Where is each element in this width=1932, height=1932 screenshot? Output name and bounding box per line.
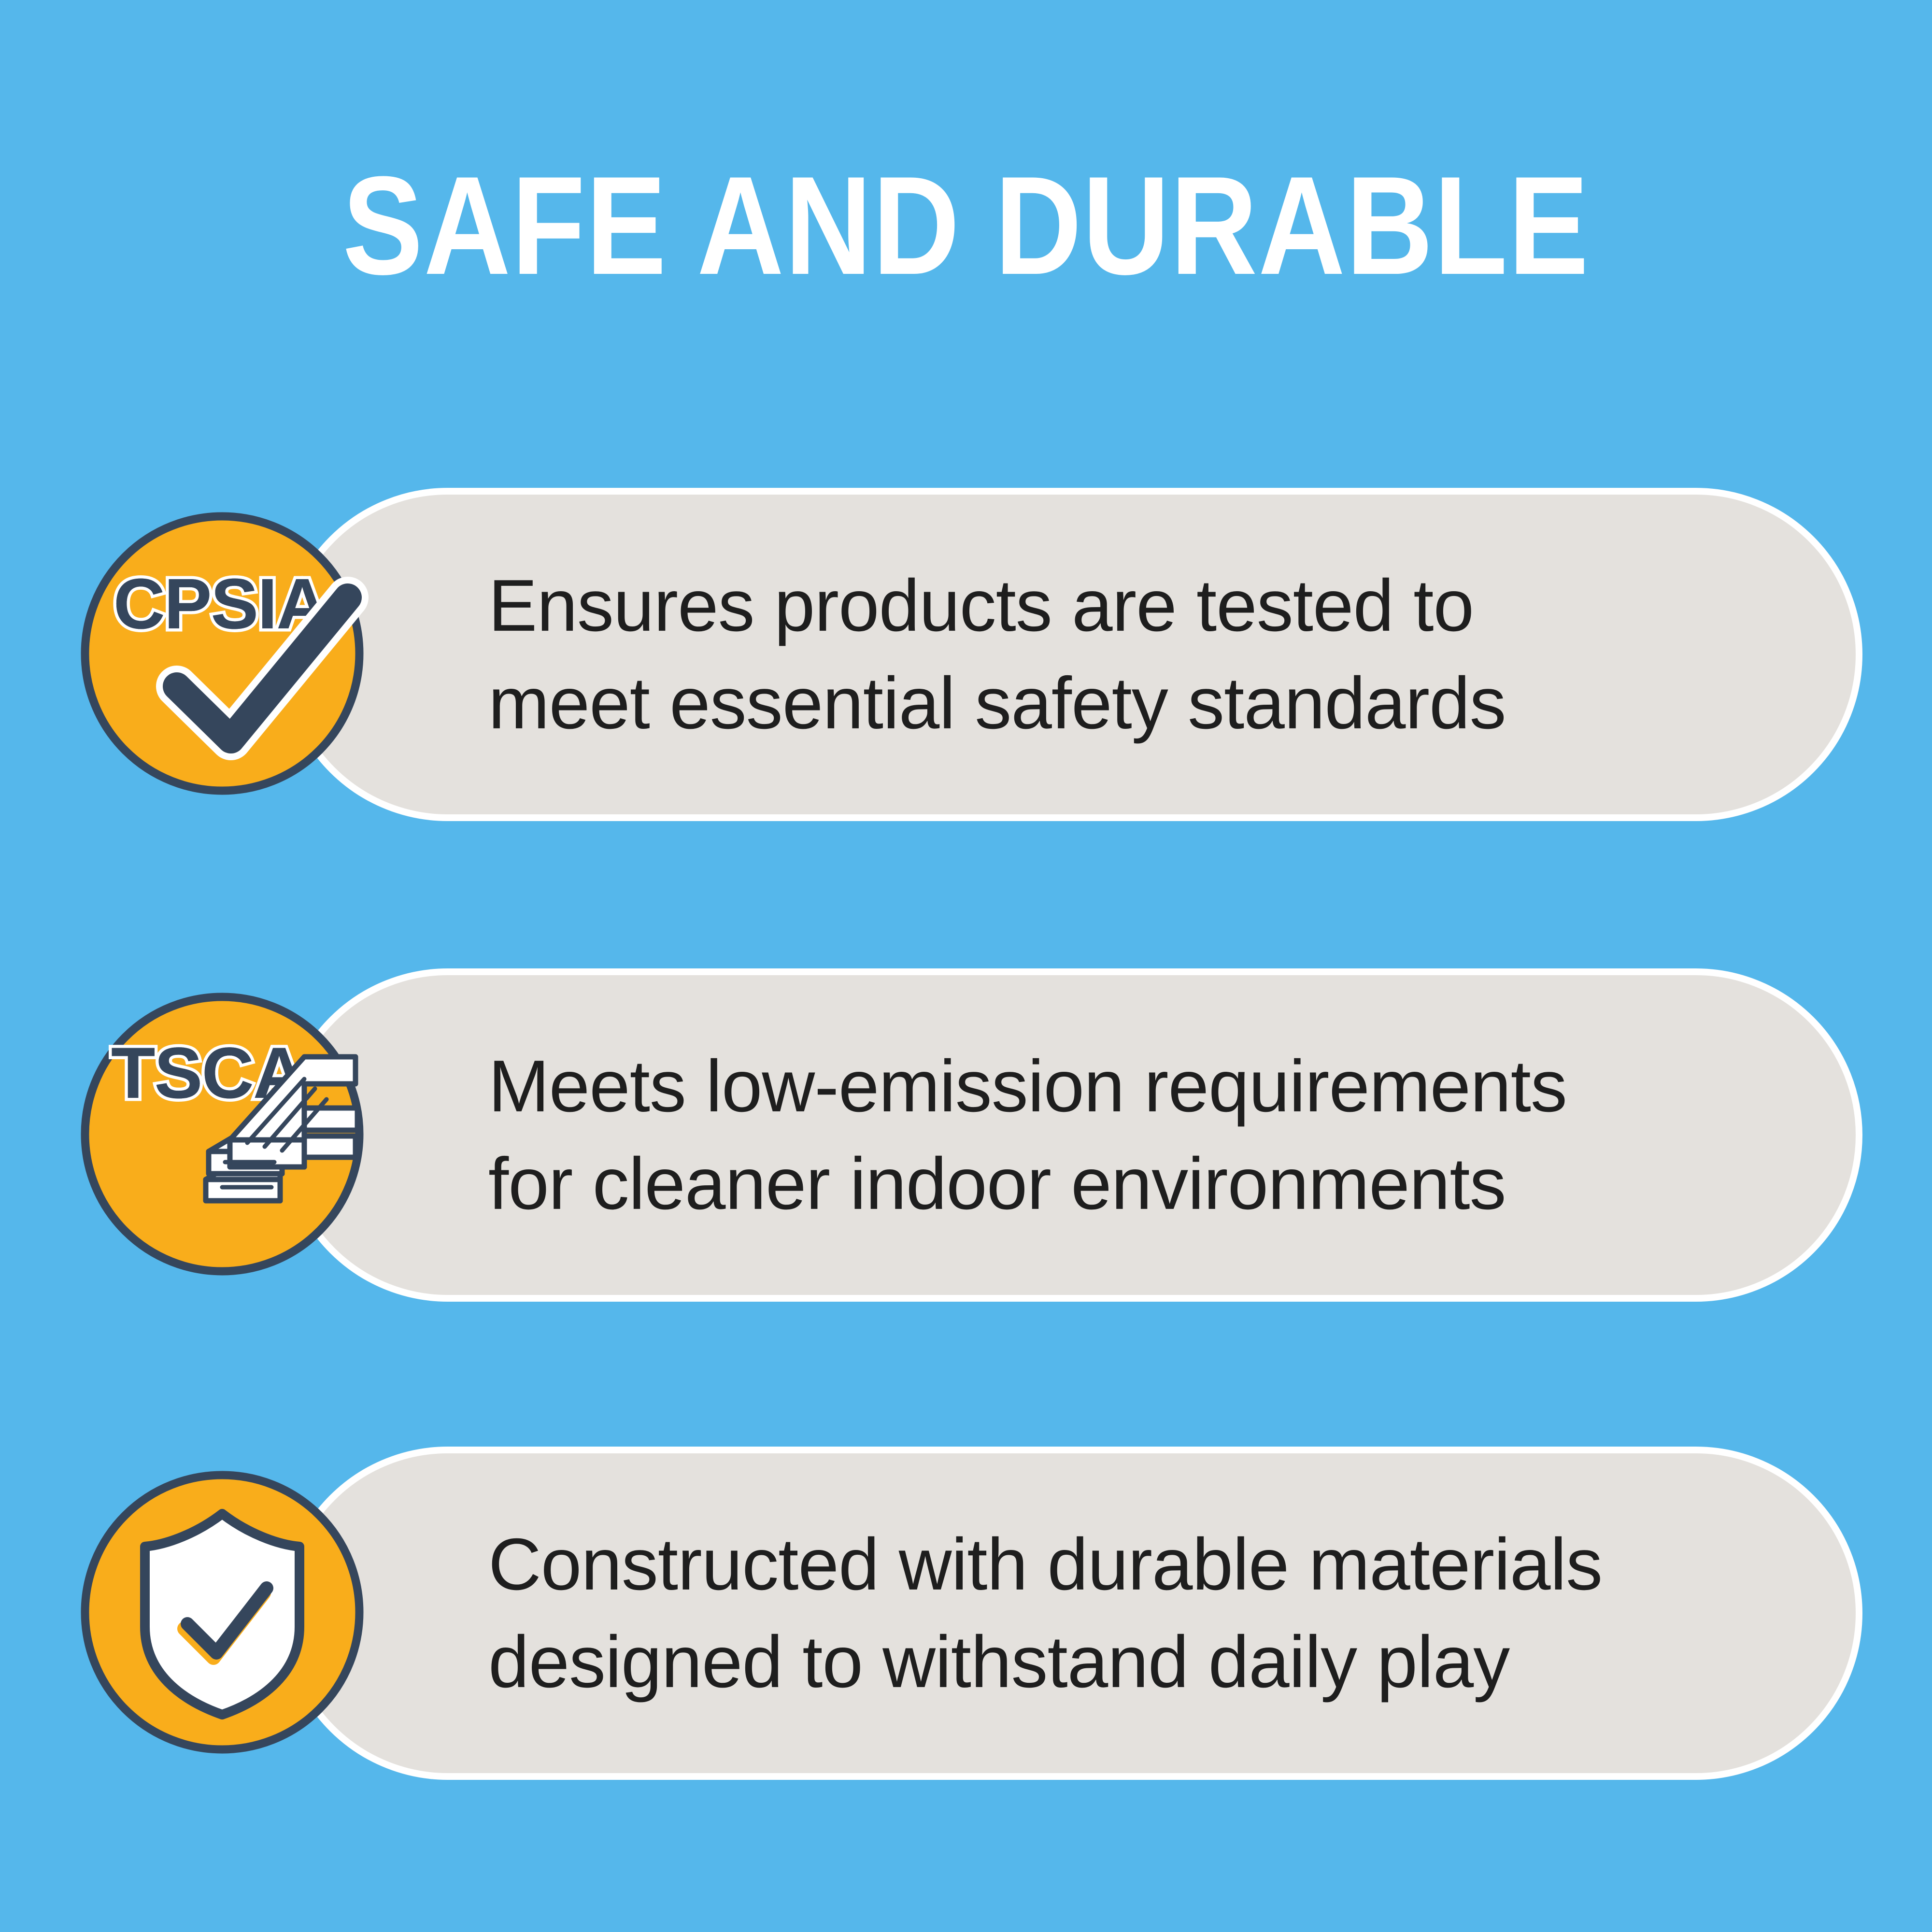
shield-badge xyxy=(77,1467,367,1757)
feature-text-line-2: meet essential safety standards xyxy=(488,654,1792,752)
feature-row-tsca: Meets low-emission requirements for clea… xyxy=(0,966,1932,1304)
feature-card: Meets low-emission requirements for clea… xyxy=(281,968,1862,1302)
tsca-badge: TSCA TSCA xyxy=(77,989,367,1279)
feature-text-line-1: Meets low-emission requirements xyxy=(488,1037,1792,1135)
infographic-canvas: SAFE AND DURABLE Ensures products are te… xyxy=(0,0,1932,1932)
feature-card: Constructed with durable materials desig… xyxy=(281,1447,1862,1780)
feature-card-text: Meets low-emission requirements for clea… xyxy=(488,1037,1792,1233)
feature-text-line-2: for cleaner indoor environments xyxy=(488,1135,1792,1233)
feature-card-text: Ensures products are tested to meet esse… xyxy=(488,557,1792,752)
feature-row-shield: Constructed with durable materials desig… xyxy=(0,1444,1932,1782)
feature-text-line-1: Constructed with durable materials xyxy=(488,1516,1792,1613)
feature-text-line-2: designed to withstand daily play xyxy=(488,1613,1792,1711)
page-title: SAFE AND DURABLE xyxy=(135,156,1797,296)
shield-check-icon xyxy=(145,1514,299,1715)
feature-row-cpsia: Ensures products are tested to meet esse… xyxy=(0,485,1932,824)
feature-card-text: Constructed with durable materials desig… xyxy=(488,1516,1792,1711)
feature-card: Ensures products are tested to meet esse… xyxy=(281,488,1862,821)
cpsia-badge: CPSIA CPSIA xyxy=(77,509,367,798)
feature-text-line-1: Ensures products are tested to xyxy=(488,557,1792,654)
